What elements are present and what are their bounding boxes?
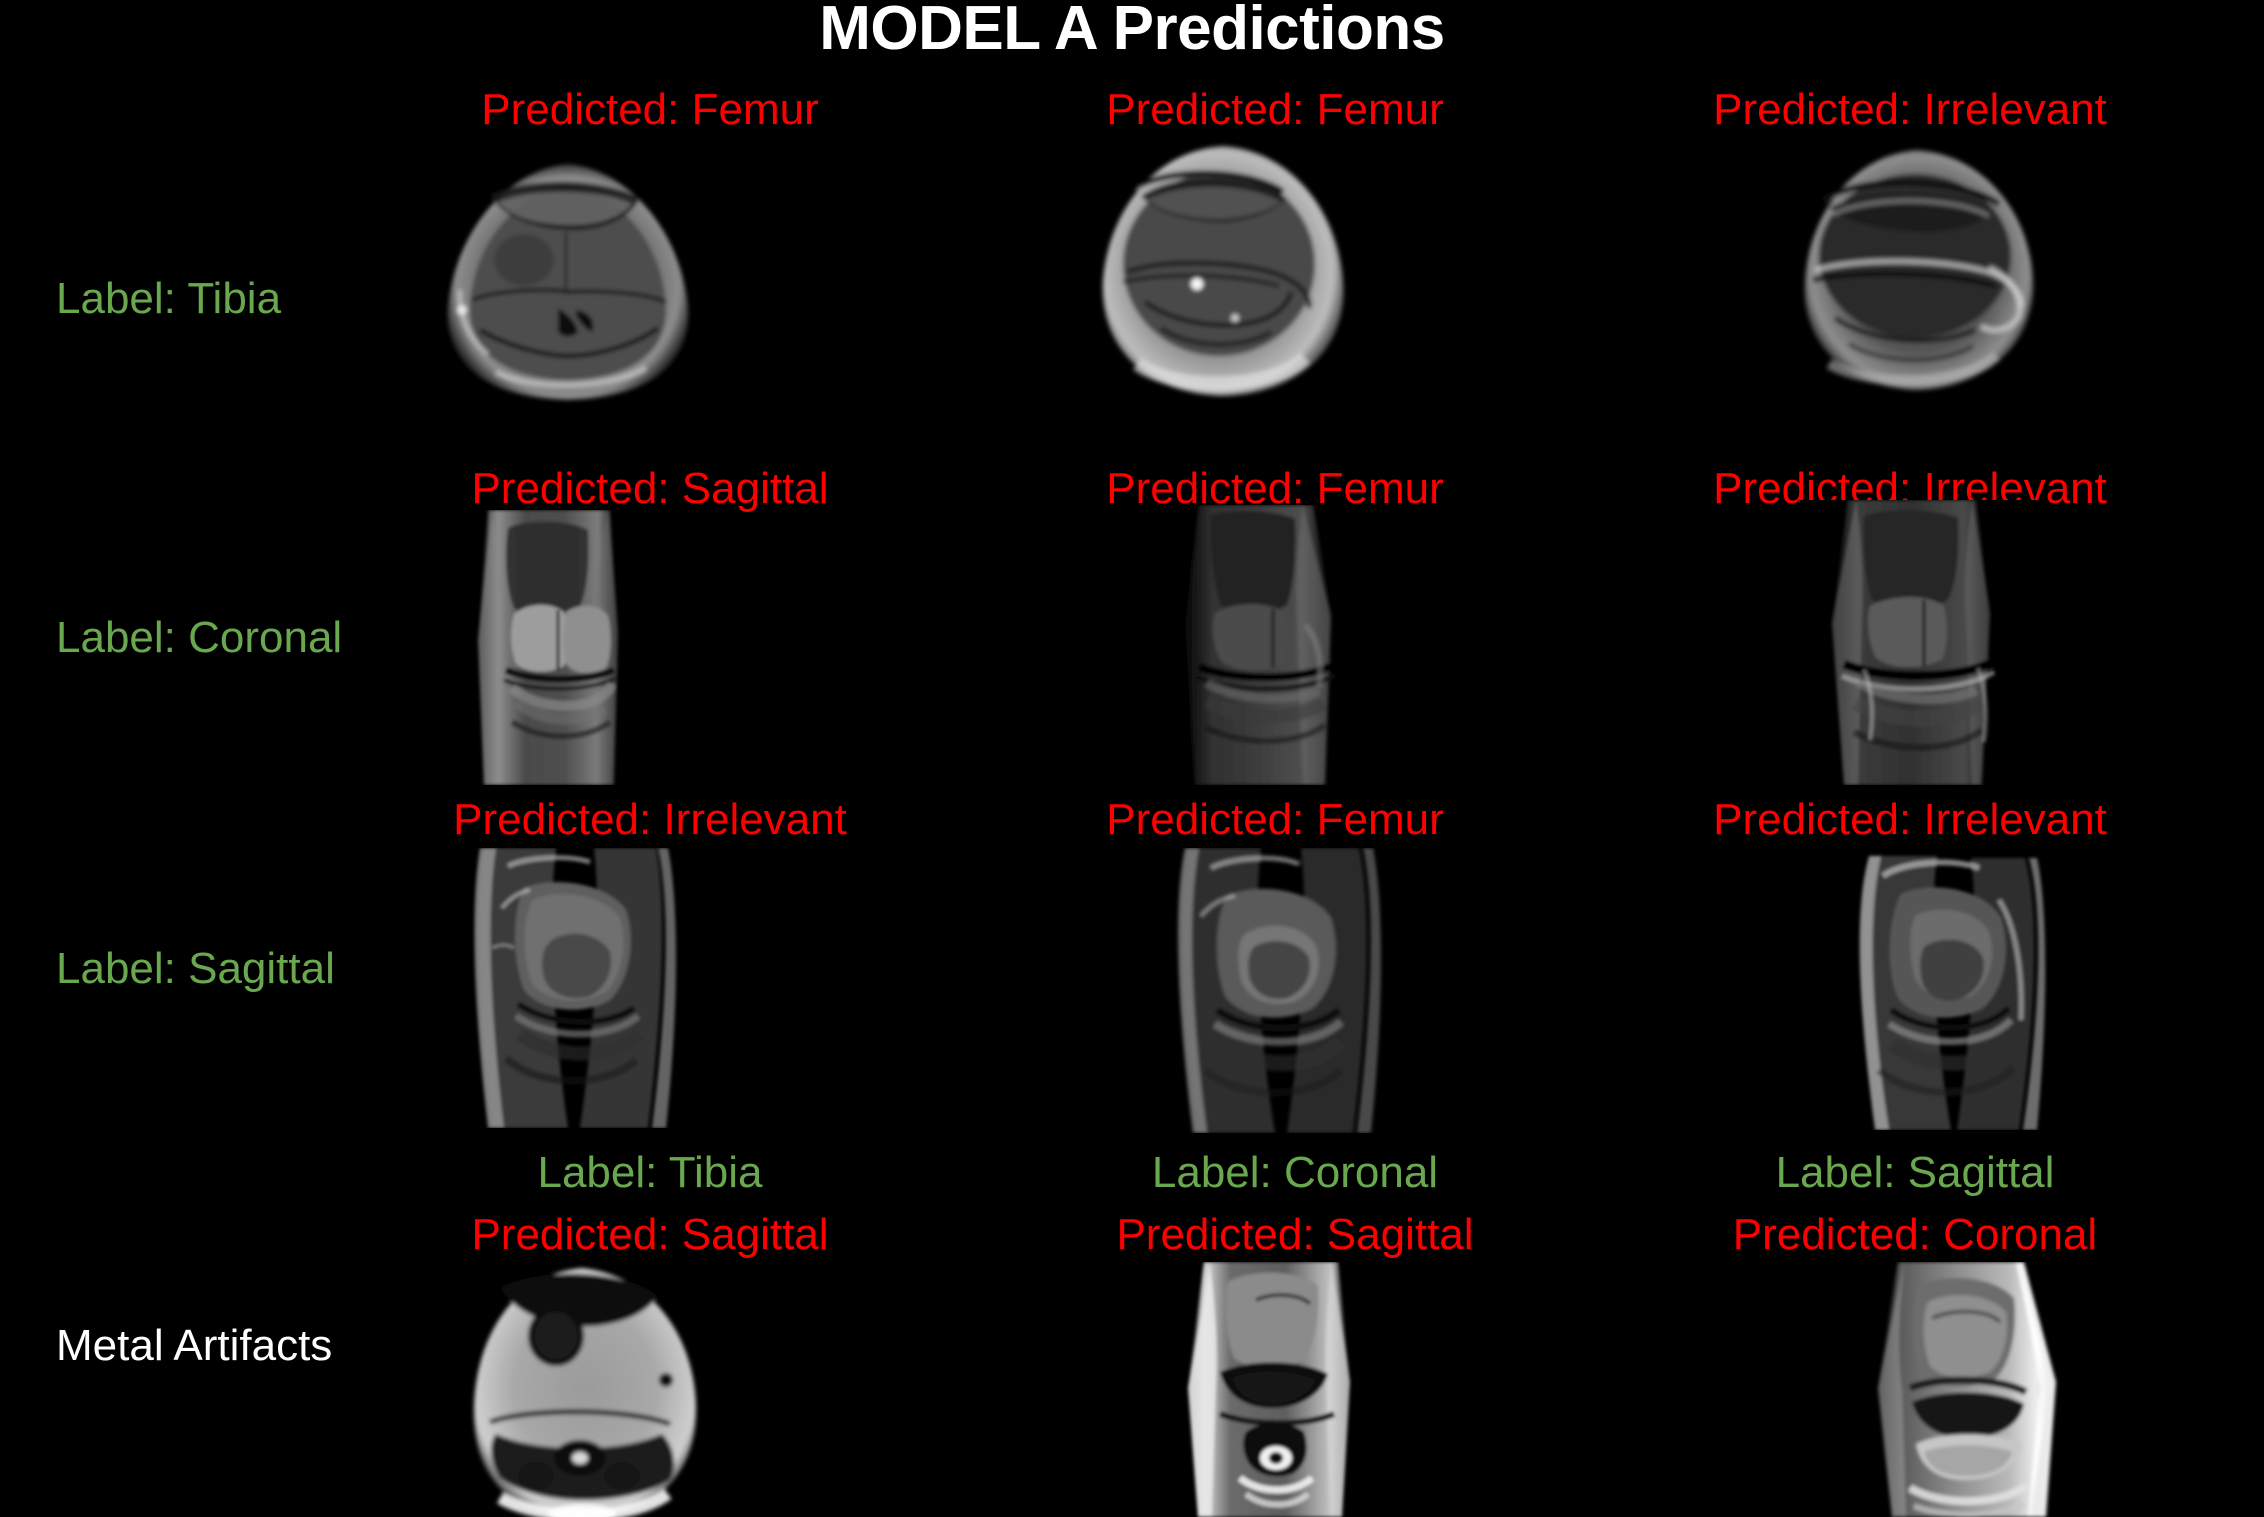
cell-label-r4c2: Label: Coronal bbox=[960, 1148, 1630, 1197]
prediction-r1c2: Predicted: Femur bbox=[925, 85, 1625, 134]
prediction-r4c1: Predicted: Sagittal bbox=[300, 1210, 1000, 1259]
prediction-r3c3: Predicted: Irrelevant bbox=[1560, 795, 2260, 844]
mri-image-r1c3-axial bbox=[1775, 138, 2065, 403]
row-label-tibia: Label: Tibia bbox=[56, 275, 281, 323]
prediction-r4c2: Predicted: Sagittal bbox=[945, 1210, 1645, 1259]
prediction-r4c3: Predicted: Coronal bbox=[1565, 1210, 2264, 1259]
prediction-r3c1: Predicted: Irrelevant bbox=[285, 795, 1015, 844]
row-label-coronal: Label: Coronal bbox=[56, 614, 342, 662]
prediction-r2c1: Predicted: Sagittal bbox=[290, 464, 1010, 513]
prediction-r3c2: Predicted: Femur bbox=[925, 795, 1625, 844]
cell-label-r4c1: Label: Tibia bbox=[315, 1148, 985, 1197]
figure-title: MODEL A Predictions bbox=[0, 0, 2264, 61]
mri-image-r3c3-sagittal bbox=[1785, 850, 2090, 1130]
mri-image-r3c2-sagittal bbox=[1115, 848, 1425, 1133]
mri-image-r1c2-axial bbox=[1075, 132, 1375, 412]
mri-image-r4c1-axial-metal bbox=[430, 1262, 750, 1517]
mri-image-r4c2-coronal-metal bbox=[1160, 1262, 1390, 1517]
prediction-r1c1: Predicted: Femur bbox=[300, 85, 1000, 134]
prediction-r1c3: Predicted: Irrelevant bbox=[1560, 85, 2260, 134]
mri-image-r2c3-coronal bbox=[1800, 500, 2045, 785]
mri-image-r2c1-coronal bbox=[440, 510, 660, 785]
cell-label-r4c3: Label: Sagittal bbox=[1580, 1148, 2250, 1197]
figure-panel: MODEL A Predictions Label: Tibia Label: … bbox=[0, 0, 2264, 1517]
mri-image-r1c1-axial bbox=[400, 140, 735, 415]
mri-image-r2c2-coronal bbox=[1155, 505, 1390, 785]
mri-image-r3c1-sagittal bbox=[420, 848, 720, 1128]
row-label-sagittal: Label: Sagittal bbox=[56, 945, 335, 993]
mri-image-r4c3-sagittal-metal bbox=[1840, 1262, 2090, 1517]
row-label-metal-artifacts: Metal Artifacts bbox=[56, 1322, 332, 1370]
